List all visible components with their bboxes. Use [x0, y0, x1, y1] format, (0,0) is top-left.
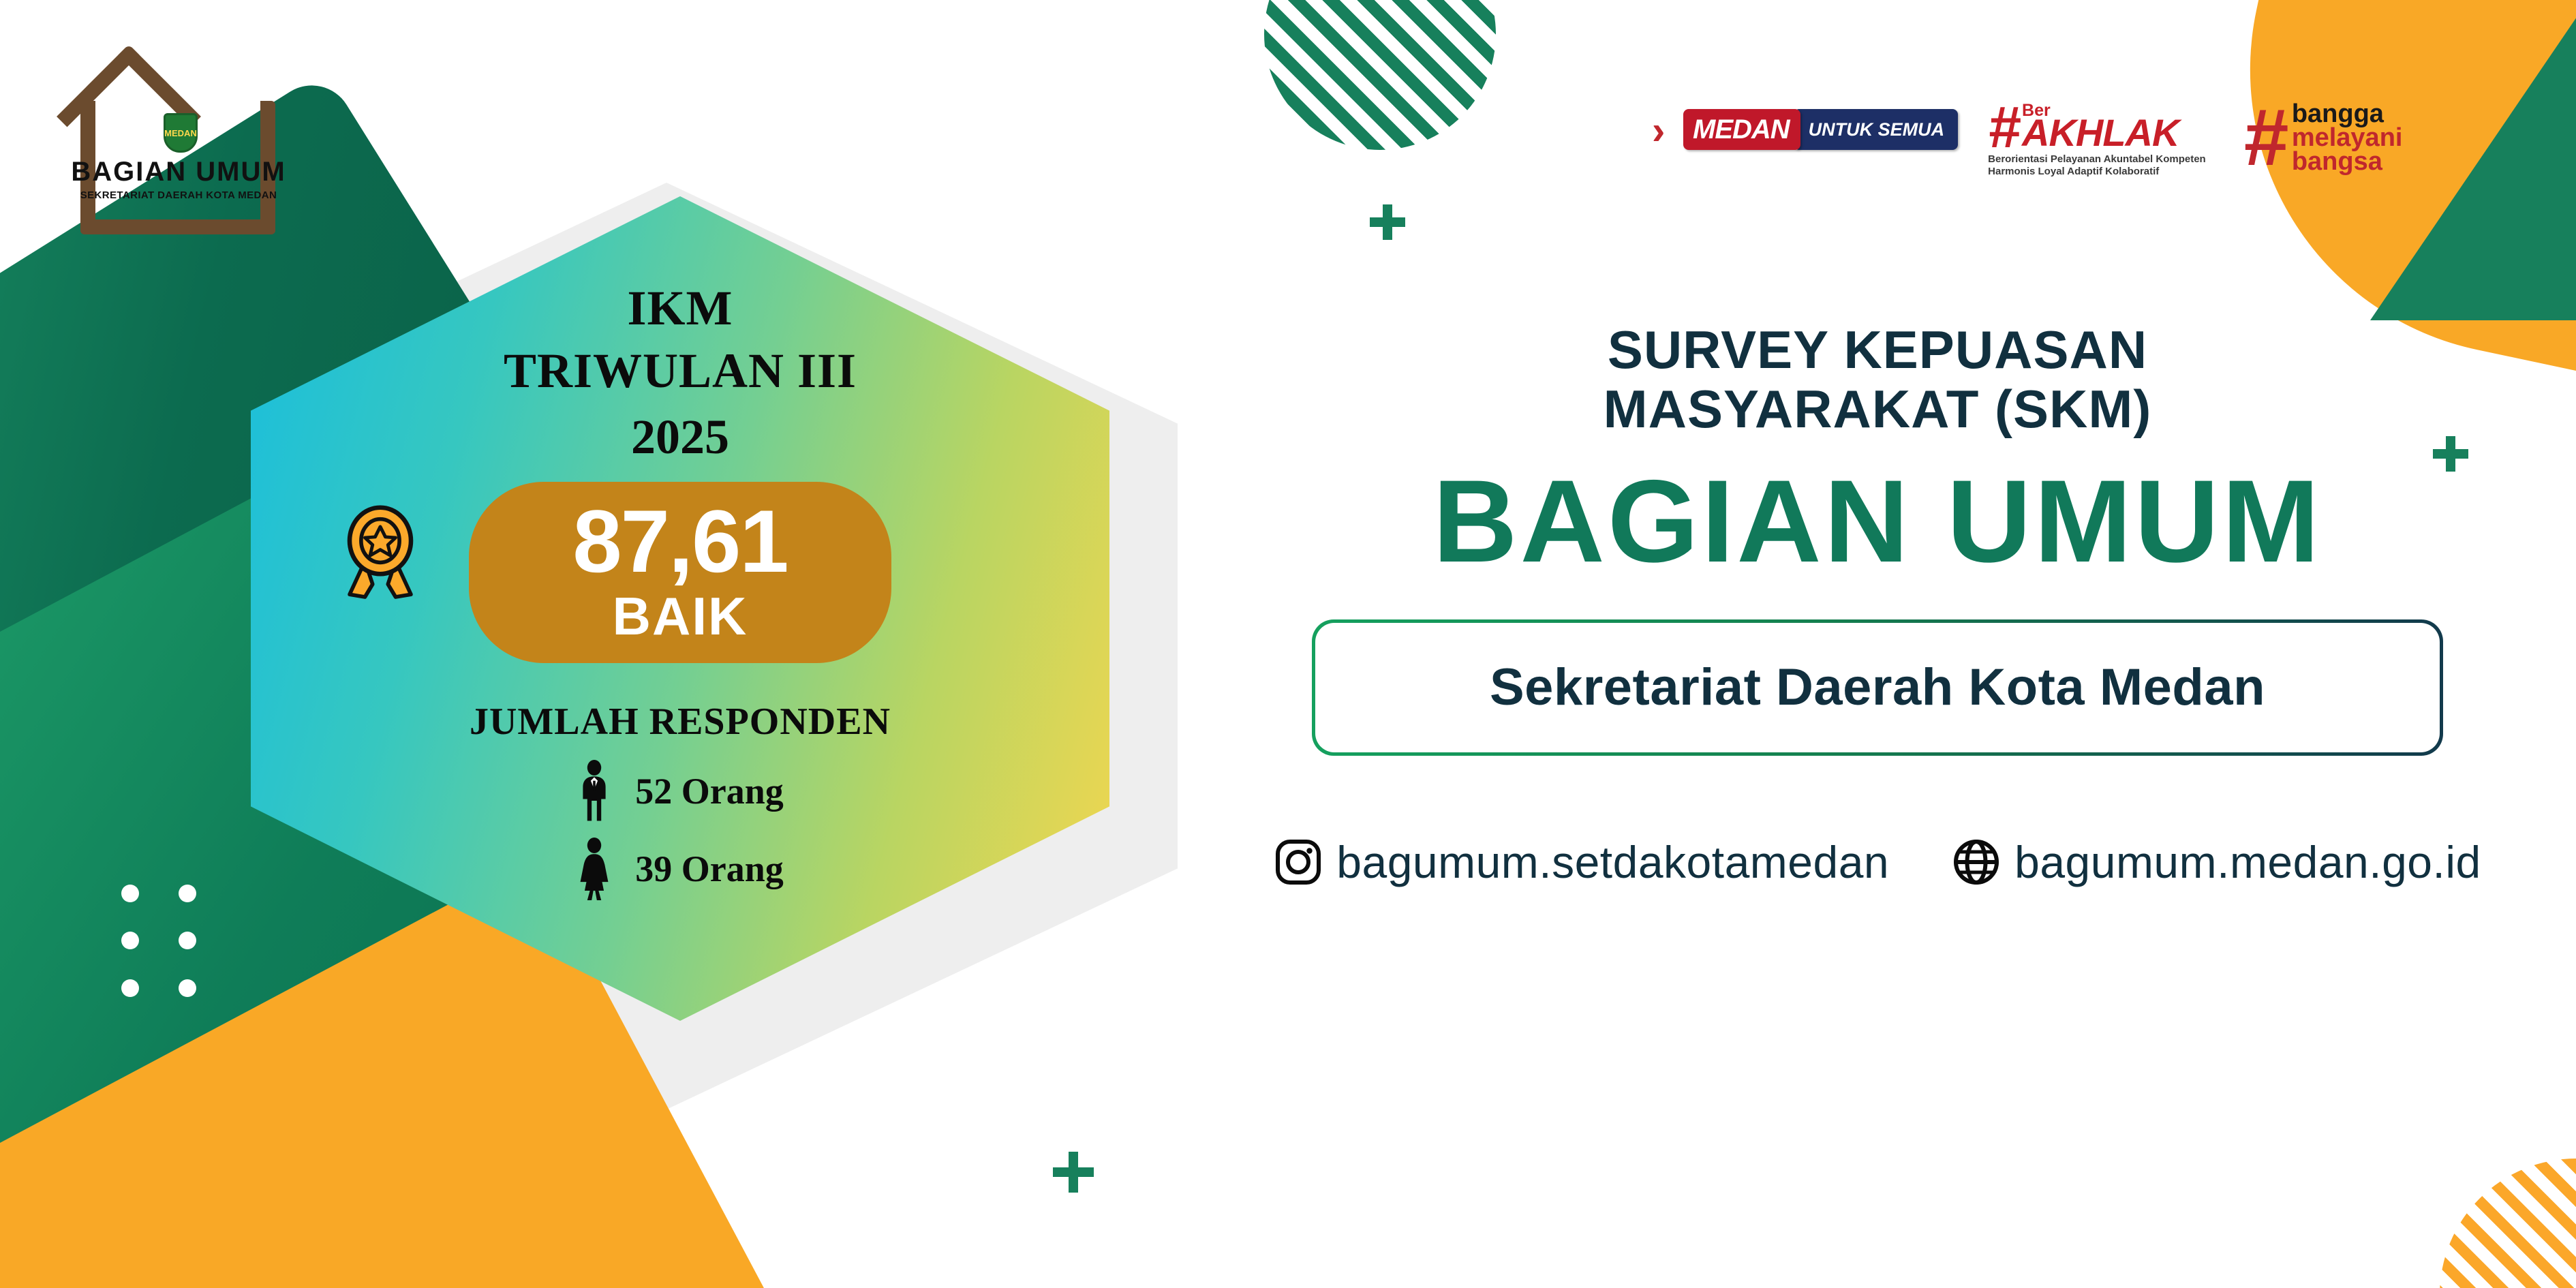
- berakhlak-tagline-line2: Harmonis Loyal Adaptif Kolaboratif: [1988, 166, 2213, 179]
- respondents-list: 52 Orang 39 Orang: [577, 760, 784, 900]
- hexagon-title: IKM TRIWULAN III: [504, 277, 857, 402]
- dot: [121, 979, 139, 997]
- website-contact[interactable]: bagumum.medan.go.id: [1952, 836, 2481, 888]
- respondent-row-male: 52 Orang: [577, 760, 784, 823]
- berakhlak-logo: # Ber AKHLAK Berorientasi Pelayanan Akun…: [1988, 102, 2213, 179]
- respondent-row-female: 39 Orang: [577, 838, 784, 900]
- bangga-line2: melayani: [2292, 126, 2403, 150]
- respondent-count-male: 52 Orang: [635, 770, 784, 812]
- score-row: 87,61 BAIK: [469, 482, 891, 663]
- award-ribbon-icon: [339, 505, 421, 607]
- survey-kicker: SURVEY KEPUASAN MASYARAKAT (SKM): [1220, 320, 2535, 440]
- contact-bar: bagumum.setdakotamedan bagumum.medan.go.…: [1220, 836, 2535, 888]
- dot: [179, 979, 196, 997]
- subtitle-pill-label: Sekretariat Daerah Kota Medan: [1490, 658, 2265, 717]
- instagram-contact[interactable]: bagumum.setdakotamedan: [1274, 836, 1889, 888]
- headline-block: SURVEY KEPUASAN MASYARAKAT (SKM) BAGIAN …: [1220, 320, 2535, 888]
- bangga-line3: bangsa: [2292, 150, 2403, 174]
- male-person-icon: [577, 760, 612, 823]
- hash-icon: #: [1988, 107, 2021, 149]
- bangga-line1: bangga: [2292, 102, 2403, 126]
- subtitle-pill: Sekretariat Daerah Kota Medan: [1312, 619, 2443, 756]
- berakhlak-wordmark: AKHLAK: [2022, 117, 2179, 149]
- berakhlak-tagline: Berorientasi Pelayanan Akuntabel Kompete…: [1988, 153, 2213, 179]
- respondent-count-female: 39 Orang: [635, 848, 784, 890]
- orange-striped-circle: [2440, 1159, 2576, 1288]
- globe-icon: [1952, 838, 2001, 887]
- website-handle: bagumum.medan.go.id: [2014, 836, 2481, 888]
- berakhlak-tagline-line1: Berorientasi Pelayanan Akuntabel Kompete…: [1988, 153, 2213, 166]
- medan-untuk-semua-logo: MEDAN UNTUK SEMUA: [1683, 109, 1958, 150]
- plus-icon: [1370, 204, 1405, 240]
- crest-label: MEDAN: [164, 129, 197, 138]
- logo-title: BAGIAN UMUM: [42, 157, 315, 187]
- plus-icon: [1053, 1152, 1094, 1193]
- ikm-score-label: BAIK: [613, 589, 748, 643]
- dot: [121, 885, 139, 902]
- instagram-icon: [1274, 838, 1323, 887]
- green-striped-circle: [1264, 0, 1496, 150]
- dot: [179, 885, 196, 902]
- respondents-heading: JUMLAH RESPONDEN: [470, 700, 891, 743]
- dot: [121, 932, 139, 949]
- hexagon-title-line1: IKM: [504, 277, 857, 339]
- ikm-score-value: 87,61: [572, 497, 787, 585]
- hash-icon: #: [2243, 110, 2288, 166]
- untuk-semua-wordmark: UNTUK SEMUA: [1794, 109, 1959, 150]
- chevron-right-icon: ›: [1652, 108, 1665, 153]
- female-person-icon: [577, 838, 612, 900]
- survey-kicker-line1: SURVEY KEPUASAN: [1220, 320, 2535, 380]
- hexagon-title-line2: TRIWULAN III: [504, 339, 857, 402]
- score-pill: 87,61 BAIK: [469, 482, 891, 663]
- medan-wordmark: MEDAN: [1683, 109, 1800, 150]
- bangga-melayani-bangsa-logo: › # bangga melayani bangsa: [2243, 102, 2402, 174]
- medan-city-crest-icon: MEDAN: [164, 113, 198, 153]
- infographic-banner: MEDAN BAGIAN UMUM SEKRETARIAT DAERAH KOT…: [0, 0, 2576, 1288]
- page-title: BAGIAN UMUM: [1220, 463, 2535, 580]
- instagram-handle: bagumum.setdakotamedan: [1336, 836, 1889, 888]
- logo-subtitle: SEKRETARIAT DAERAH KOTA MEDAN: [42, 189, 315, 201]
- partner-logo-strip: MEDAN UNTUK SEMUA # Ber AKHLAK Berorient…: [1683, 102, 2402, 191]
- dot: [179, 932, 196, 949]
- hexagon-year: 2025: [631, 409, 729, 465]
- dot-grid-decoration: [121, 885, 203, 1000]
- ikm-hexagon-card: IKM TRIWULAN III 2025 87,61 BAIK JUMLAH …: [251, 196, 1109, 1021]
- bagian-umum-logo: MEDAN BAGIAN UMUM SEKRETARIAT DAERAH KOT…: [42, 101, 315, 237]
- survey-kicker-line2: MASYARAKAT (SKM): [1220, 380, 2535, 439]
